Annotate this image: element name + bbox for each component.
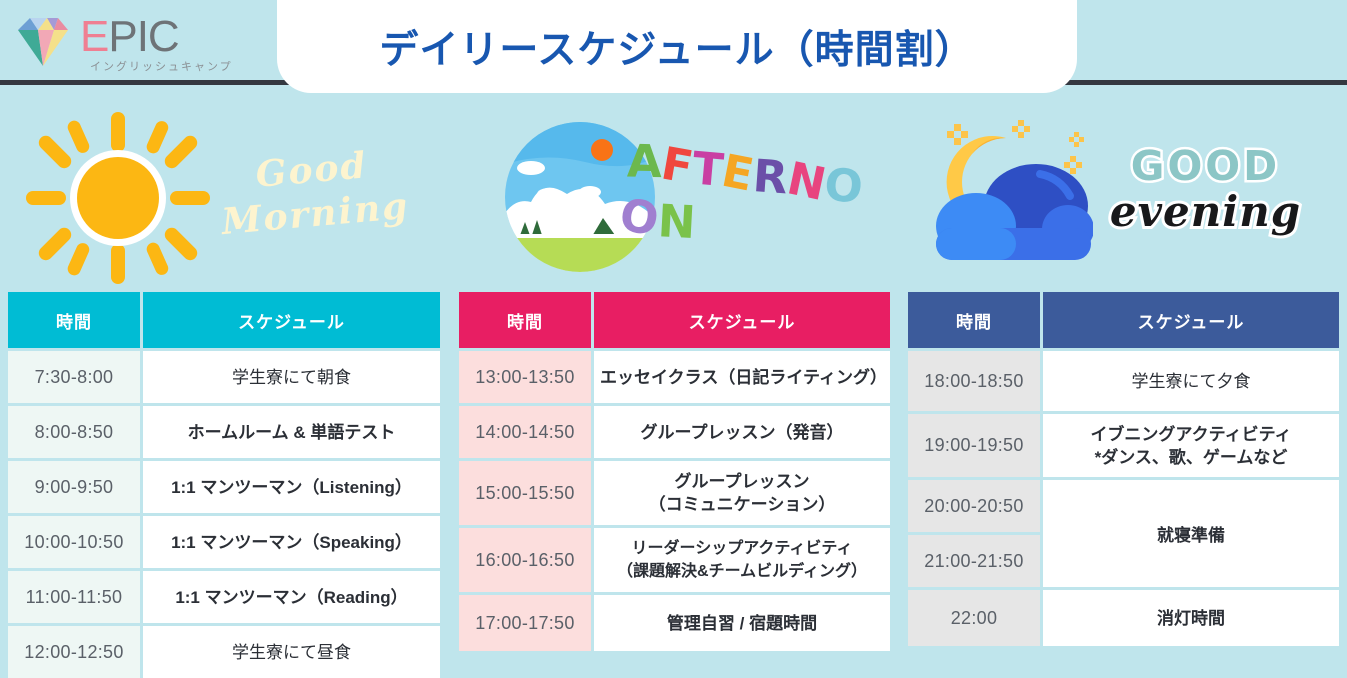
- good-morning-line2: Morning: [220, 185, 411, 243]
- table-row: 7:30-8:00 学生寮にて朝食: [8, 351, 440, 403]
- table-row: 18:00-18:50 学生寮にて夕食: [908, 351, 1339, 411]
- column-header-time: 時間: [8, 292, 140, 348]
- logo-wordmark: EPIC: [80, 14, 179, 60]
- epic-logo: EPIC イングリッシュキャンプ: [18, 12, 218, 74]
- banner-evening: GOOD evening: [908, 100, 1339, 290]
- table-header-evening: 時間 スケジュール: [908, 292, 1339, 348]
- afternoon-letter-7: O: [616, 187, 663, 249]
- banner-afternoon: AFTERNOON: [459, 100, 890, 290]
- schedule-table-afternoon: 時間 スケジュール 13:00-13:50 エッセイクラス（日記ライティング） …: [459, 292, 890, 654]
- afternoon-letter-0: A: [626, 133, 662, 190]
- cell-time: 21:00-21:50: [908, 535, 1040, 587]
- cell-schedule: 1:1 マンツーマン（Listening）: [143, 461, 440, 513]
- cell-time: 19:00-19:50: [908, 414, 1040, 477]
- cell-schedule: グループレッスン（発音）: [594, 406, 890, 458]
- table-row: 22:00 消灯時間: [908, 590, 1339, 646]
- cell-schedule: 管理自習 / 宿題時間: [594, 595, 890, 651]
- table-header-morning: 時間 スケジュール: [8, 292, 440, 348]
- banner-row: Good Morning AFTERNOON: [0, 100, 1347, 290]
- cell-schedule: リーダーシップアクティビティ （課題解決&チームビルディング）: [594, 528, 890, 592]
- afternoon-letter-6: O: [822, 157, 865, 216]
- banner-morning: Good Morning: [8, 100, 440, 290]
- cell-time: 16:00-16:50: [459, 528, 591, 592]
- merged-time-stack: 20:00-20:50 21:00-21:50: [908, 480, 1040, 587]
- good-evening-line1: GOOD: [1098, 144, 1313, 188]
- cell-schedule: グループレッスン （コミュニケーション）: [594, 461, 890, 525]
- moon-cloud-icon: [918, 116, 1093, 276]
- table-row: 16:00-16:50 リーダーシップアクティビティ （課題解決&チームビルディ…: [459, 528, 890, 592]
- table-row: 14:00-14:50 グループレッスン（発音）: [459, 406, 890, 458]
- cell-time: 11:00-11:50: [8, 571, 140, 623]
- afternoon-label: AFTERNOON: [620, 132, 899, 254]
- cell-schedule: ホームルーム & 単語テスト: [143, 406, 440, 458]
- afternoon-letter-8: N: [657, 193, 698, 251]
- cell-schedule: 学生寮にて朝食: [143, 351, 440, 403]
- table-row: 15:00-15:50 グループレッスン （コミュニケーション）: [459, 461, 890, 525]
- cell-schedule: イブニングアクティビティ *ダンス、歌、ゲームなど: [1043, 414, 1339, 477]
- cell-time: 10:00-10:50: [8, 516, 140, 568]
- schedule-table-evening: 時間 スケジュール 18:00-18:50 学生寮にて夕食 19:00-19:5…: [908, 292, 1339, 649]
- logo-letter-e: E: [80, 12, 108, 61]
- cell-schedule: 1:1 マンツーマン（Reading）: [143, 571, 440, 623]
- cell-schedule: 1:1 マンツーマン（Speaking）: [143, 516, 440, 568]
- cell-time: 13:00-13:50: [459, 351, 591, 403]
- table-row: 13:00-13:50 エッセイクラス（日記ライティング）: [459, 351, 890, 403]
- cell-time: 15:00-15:50: [459, 461, 591, 525]
- good-evening-line2: evening: [1098, 188, 1313, 236]
- cell-schedule: エッセイクラス（日記ライティング）: [594, 351, 890, 403]
- table-row: 9:00-9:50 1:1 マンツーマン（Listening）: [8, 461, 440, 513]
- schedule-table-morning: 時間 スケジュール 7:30-8:00 学生寮にて朝食 8:00-8:50 ホー…: [8, 292, 440, 678]
- table-row: 12:00-12:50 学生寮にて昼食: [8, 626, 440, 678]
- column-header-time: 時間: [459, 292, 591, 348]
- cell-time: 7:30-8:00: [8, 351, 140, 403]
- column-header-schedule: スケジュール: [1043, 292, 1339, 348]
- sun-icon: [22, 106, 217, 291]
- table-row: 19:00-19:50 イブニングアクティビティ *ダンス、歌、ゲームなど: [908, 414, 1339, 477]
- column-header-schedule: スケジュール: [143, 292, 440, 348]
- column-header-time: 時間: [908, 292, 1040, 348]
- table-row-merged: 20:00-20:50 21:00-21:50 就寝準備: [908, 480, 1339, 587]
- cell-time: 9:00-9:50: [8, 461, 140, 513]
- cell-time: 12:00-12:50: [8, 626, 140, 678]
- good-morning-label: Good Morning: [203, 139, 425, 245]
- table-row: 8:00-8:50 ホームルーム & 単語テスト: [8, 406, 440, 458]
- cell-time: 14:00-14:50: [459, 406, 591, 458]
- page-title: デイリースケジュール（時間割）: [277, 0, 1077, 93]
- table-header-afternoon: 時間 スケジュール: [459, 292, 890, 348]
- logo-subtitle: イングリッシュキャンプ: [90, 58, 233, 74]
- table-row: 17:00-17:50 管理自習 / 宿題時間: [459, 595, 890, 651]
- table-row: 10:00-10:50 1:1 マンツーマン（Speaking）: [8, 516, 440, 568]
- column-header-schedule: スケジュール: [594, 292, 890, 348]
- cell-schedule: 消灯時間: [1043, 590, 1339, 646]
- cell-time: 8:00-8:50: [8, 406, 140, 458]
- cell-time: 17:00-17:50: [459, 595, 591, 651]
- page-header: デイリースケジュール（時間割） EPIC イングリッシュキャンプ: [0, 0, 1347, 100]
- cell-time: 20:00-20:50: [908, 480, 1040, 532]
- good-morning-line1: Good: [254, 144, 369, 196]
- logo-letters-pic: PIC: [108, 12, 178, 61]
- title-card: デイリースケジュール（時間割）: [277, 0, 1077, 93]
- cell-time: 18:00-18:50: [908, 351, 1040, 411]
- diamond-gem-icon: [18, 16, 76, 70]
- cell-schedule: 学生寮にて夕食: [1043, 351, 1339, 411]
- cell-schedule-merged: 就寝準備: [1043, 480, 1339, 587]
- cell-schedule: 学生寮にて昼食: [143, 626, 440, 678]
- cell-time: 22:00: [908, 590, 1040, 646]
- table-row: 11:00-11:50 1:1 マンツーマン（Reading）: [8, 571, 440, 623]
- good-evening-label: GOOD evening: [1098, 144, 1313, 236]
